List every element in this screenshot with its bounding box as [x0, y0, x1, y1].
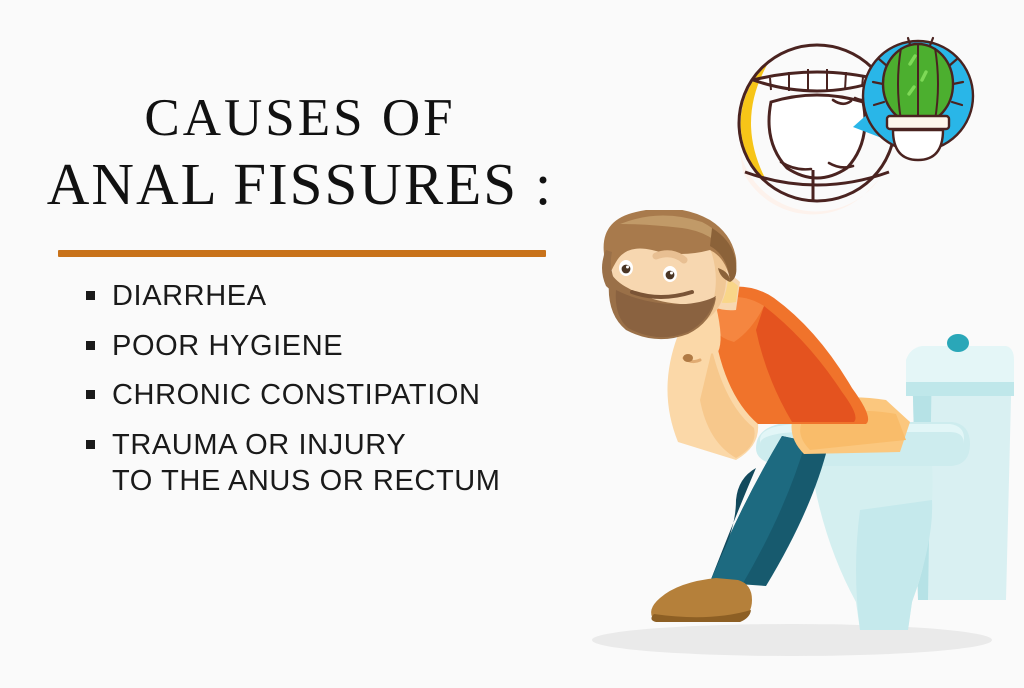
causes-list: DIARRHEA POOR HYGIENE CHRONIC CONSTIPATI… [86, 278, 596, 513]
page-title-line-1: CAUSES OF [40, 92, 560, 145]
list-item: POOR HYGIENE [86, 328, 596, 365]
bearded-man-on-toilet-illustration [560, 210, 1024, 688]
list-item: CHRONIC CONSTIPATION [86, 377, 596, 414]
page-title-line-2: ANAL FISSURES : [40, 155, 560, 214]
list-item: TRAUMA OR INJURY TO THE ANUS OR RECTUM [86, 427, 596, 500]
square-bullet-icon [86, 440, 95, 449]
floor-shadow [592, 624, 992, 656]
square-bullet-icon [86, 341, 95, 350]
square-bullet-icon [86, 291, 95, 300]
list-item-label: DIARRHEA [112, 278, 596, 315]
illustration-column [560, 0, 1024, 688]
legs-and-shoe [651, 436, 828, 622]
cactus-speech-bubble [853, 38, 973, 160]
infographic-page: CAUSES OF ANAL FISSURES : DIARRHEA POOR … [0, 0, 1024, 688]
text-column: CAUSES OF ANAL FISSURES : DIARRHEA POOR … [0, 0, 600, 688]
page-title: CAUSES OF ANAL FISSURES : [40, 92, 560, 214]
square-bullet-icon [86, 390, 95, 399]
list-item-label: CHRONIC CONSTIPATION [112, 377, 596, 414]
title-divider [58, 250, 546, 257]
list-item-label: POOR HYGIENE [112, 328, 596, 365]
anus-line-art-with-cactus-speech-bubble-icon [705, 22, 990, 217]
list-item-label: TRAUMA OR INJURY TO THE ANUS OR RECTUM [112, 427, 596, 500]
flush-button [947, 334, 969, 352]
list-item: DIARRHEA [86, 278, 596, 315]
